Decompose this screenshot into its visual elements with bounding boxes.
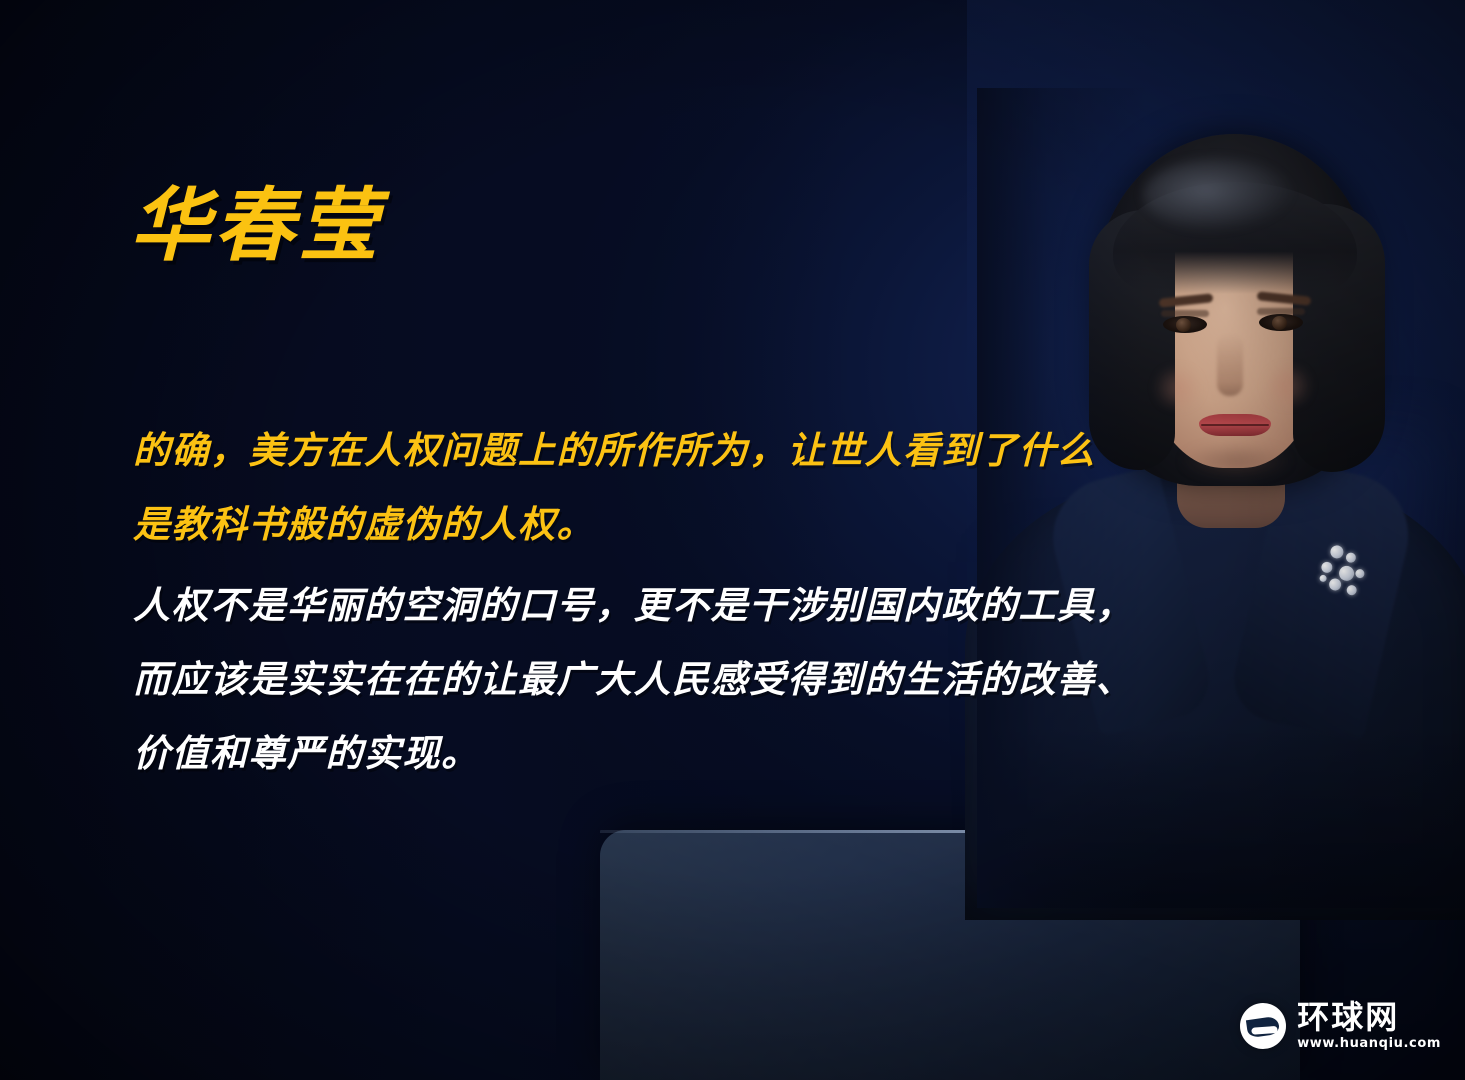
quote-line: 的确，美方在人权问题上的所作所为，让世人看到了什么 bbox=[133, 432, 1093, 469]
quote-line: 人权不是华丽的空洞的口号，更不是干涉别国内政的工具， bbox=[133, 587, 1093, 624]
news-quote-card: 华春莹 的确，美方在人权问题上的所作所为，让世人看到了什么 是教科书般的虚伪的人… bbox=[0, 0, 1465, 1080]
quote-paragraph-white: 人权不是华丽的空洞的口号，更不是干涉别国内政的工具， 而应该是实实在在的让最广大… bbox=[133, 587, 1093, 772]
quote-line: 而应该是实实在在的让最广大人民感受得到的生活的改善、 bbox=[133, 661, 1093, 698]
quote-block: 的确，美方在人权问题上的所作所为，让世人看到了什么 是教科书般的虚伪的人权。 人… bbox=[133, 432, 1093, 772]
quote-line: 是教科书般的虚伪的人权。 bbox=[133, 506, 1093, 543]
logo-name: 环球网 bbox=[1297, 1001, 1441, 1033]
logo-website: www.huanqiu.com bbox=[1297, 1037, 1441, 1050]
watermark-logo: 环球网 www.huanqiu.com bbox=[1240, 1001, 1441, 1050]
page-title: 华春莹 bbox=[130, 186, 382, 266]
globe-swoosh-icon bbox=[1240, 1003, 1286, 1049]
logo-text-group: 环球网 www.huanqiu.com bbox=[1297, 1001, 1441, 1050]
quote-line: 价值和尊严的实现。 bbox=[133, 735, 1093, 772]
swoosh-shape bbox=[1246, 1015, 1280, 1037]
quote-paragraph-gold: 的确，美方在人权问题上的所作所为，让世人看到了什么 是教科书般的虚伪的人权。 bbox=[133, 432, 1093, 543]
